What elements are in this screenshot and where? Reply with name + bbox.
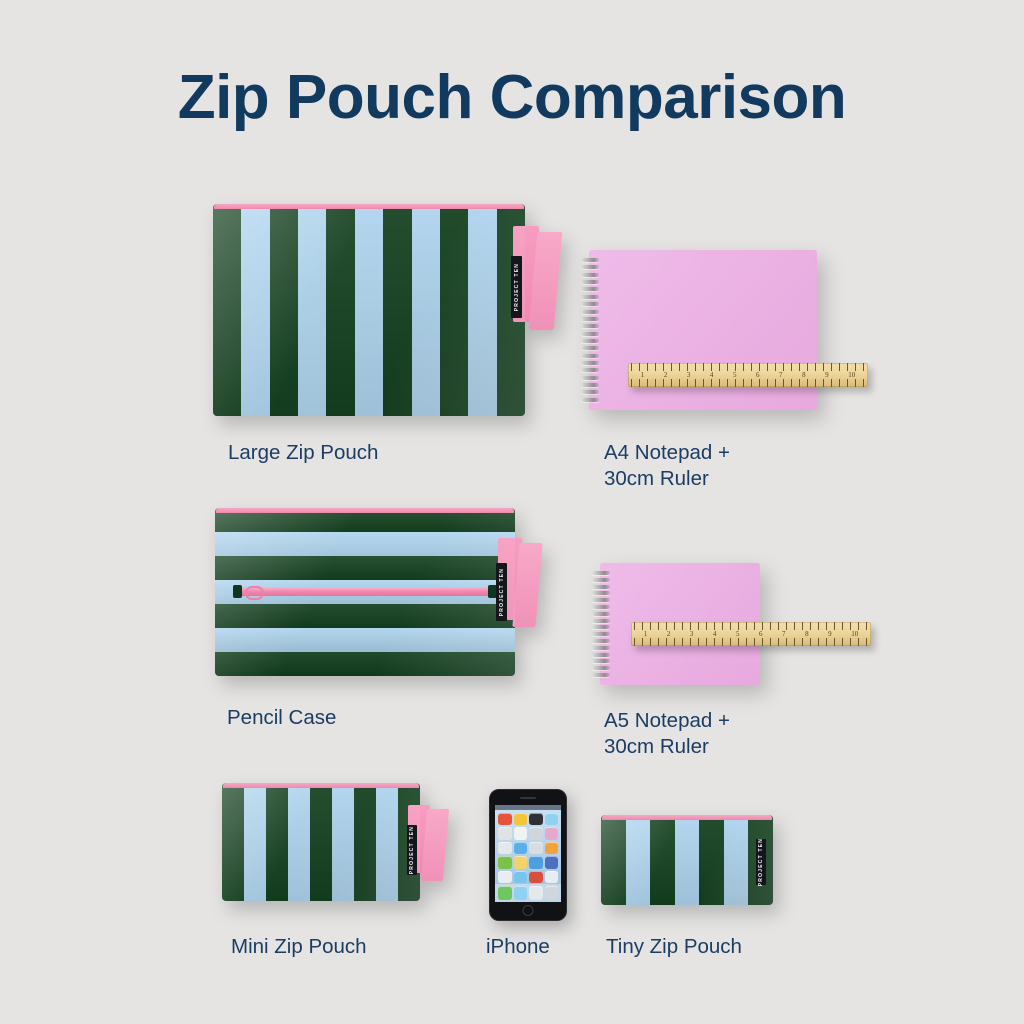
stripe <box>412 204 440 416</box>
stripe <box>675 815 700 905</box>
spiral-binding <box>592 571 610 677</box>
stripe <box>601 815 626 905</box>
ruler-numbers: 12 34 56 78 910 <box>634 629 868 639</box>
stripe <box>241 204 269 416</box>
label-iphone: iPhone <box>486 934 550 960</box>
ruler-ticks-bottom <box>634 638 868 646</box>
stripe <box>650 815 675 905</box>
stripe <box>310 783 332 901</box>
stripe <box>354 783 376 901</box>
pouch-stripes <box>222 783 420 901</box>
stripe <box>213 204 241 416</box>
label-mini-zip-pouch: Mini Zip Pouch <box>231 934 367 960</box>
stripe <box>222 783 244 901</box>
label-pencil-case: Pencil Case <box>227 705 336 731</box>
center-zip[interactable] <box>237 587 493 596</box>
stripe <box>298 204 326 416</box>
app-dock[interactable] <box>495 884 561 902</box>
brand-label: PROJECT TEN <box>756 839 766 885</box>
stripe <box>376 783 398 901</box>
stripe <box>215 652 515 676</box>
earpiece-icon <box>520 797 536 799</box>
stripe <box>215 556 515 580</box>
zip-pull-icon[interactable] <box>245 586 264 600</box>
product-pencil-case[interactable]: PROJECT TEN <box>215 508 515 676</box>
label-large-zip-pouch: Large Zip Pouch <box>228 440 378 466</box>
label-tiny-zip-pouch: Tiny Zip Pouch <box>606 934 742 960</box>
zip-tape <box>216 508 514 513</box>
stripe <box>288 783 310 901</box>
pouch-stripes <box>213 204 525 416</box>
stripe <box>215 532 515 556</box>
product-tiny-zip-pouch[interactable]: PROJECT TEN <box>601 815 773 905</box>
app-grid[interactable] <box>495 810 561 884</box>
stripe <box>626 815 651 905</box>
stripe <box>215 628 515 652</box>
stripe <box>383 204 411 416</box>
brand-label: PROJECT TEN <box>511 256 522 318</box>
stripe <box>440 204 468 416</box>
home-button-icon[interactable] <box>523 905 534 916</box>
stripe <box>699 815 724 905</box>
infographic-canvas: Zip Pouch Comparison PROJECT TEN Large Z… <box>0 0 1024 1024</box>
brand-label: PROJECT TEN <box>496 563 507 621</box>
zip-tape <box>602 815 772 820</box>
ruler-30cm-a5[interactable]: 12 34 56 78 910 <box>631 622 871 646</box>
ruler-ticks-bottom <box>631 379 865 387</box>
product-large-zip-pouch[interactable]: PROJECT TEN <box>213 204 525 416</box>
stripe <box>270 204 298 416</box>
stripe <box>215 604 515 628</box>
stripe <box>468 204 496 416</box>
spiral-binding <box>581 258 599 402</box>
pouch-stripes <box>601 815 773 905</box>
phone-screen[interactable] <box>495 805 561 902</box>
label-a5-notepad-ruler: A5 Notepad + 30cm Ruler <box>604 708 730 760</box>
stripe <box>355 204 383 416</box>
product-mini-zip-pouch[interactable]: PROJECT TEN <box>222 783 420 901</box>
ruler-numbers: 12 34 56 78 910 <box>631 370 865 380</box>
label-a4-notepad-ruler: A4 Notepad + 30cm Ruler <box>604 440 730 492</box>
ruler-30cm-a4[interactable]: 12 34 56 78 910 <box>628 363 868 387</box>
zip-tape <box>214 204 524 209</box>
zip-tape <box>223 783 419 788</box>
stripe <box>332 783 354 901</box>
stripe <box>266 783 288 901</box>
stripe <box>244 783 266 901</box>
page-title: Zip Pouch Comparison <box>0 62 1024 133</box>
brand-label: PROJECT TEN <box>407 825 417 875</box>
stripe <box>326 204 354 416</box>
stripe <box>724 815 749 905</box>
product-iphone[interactable] <box>489 789 567 921</box>
